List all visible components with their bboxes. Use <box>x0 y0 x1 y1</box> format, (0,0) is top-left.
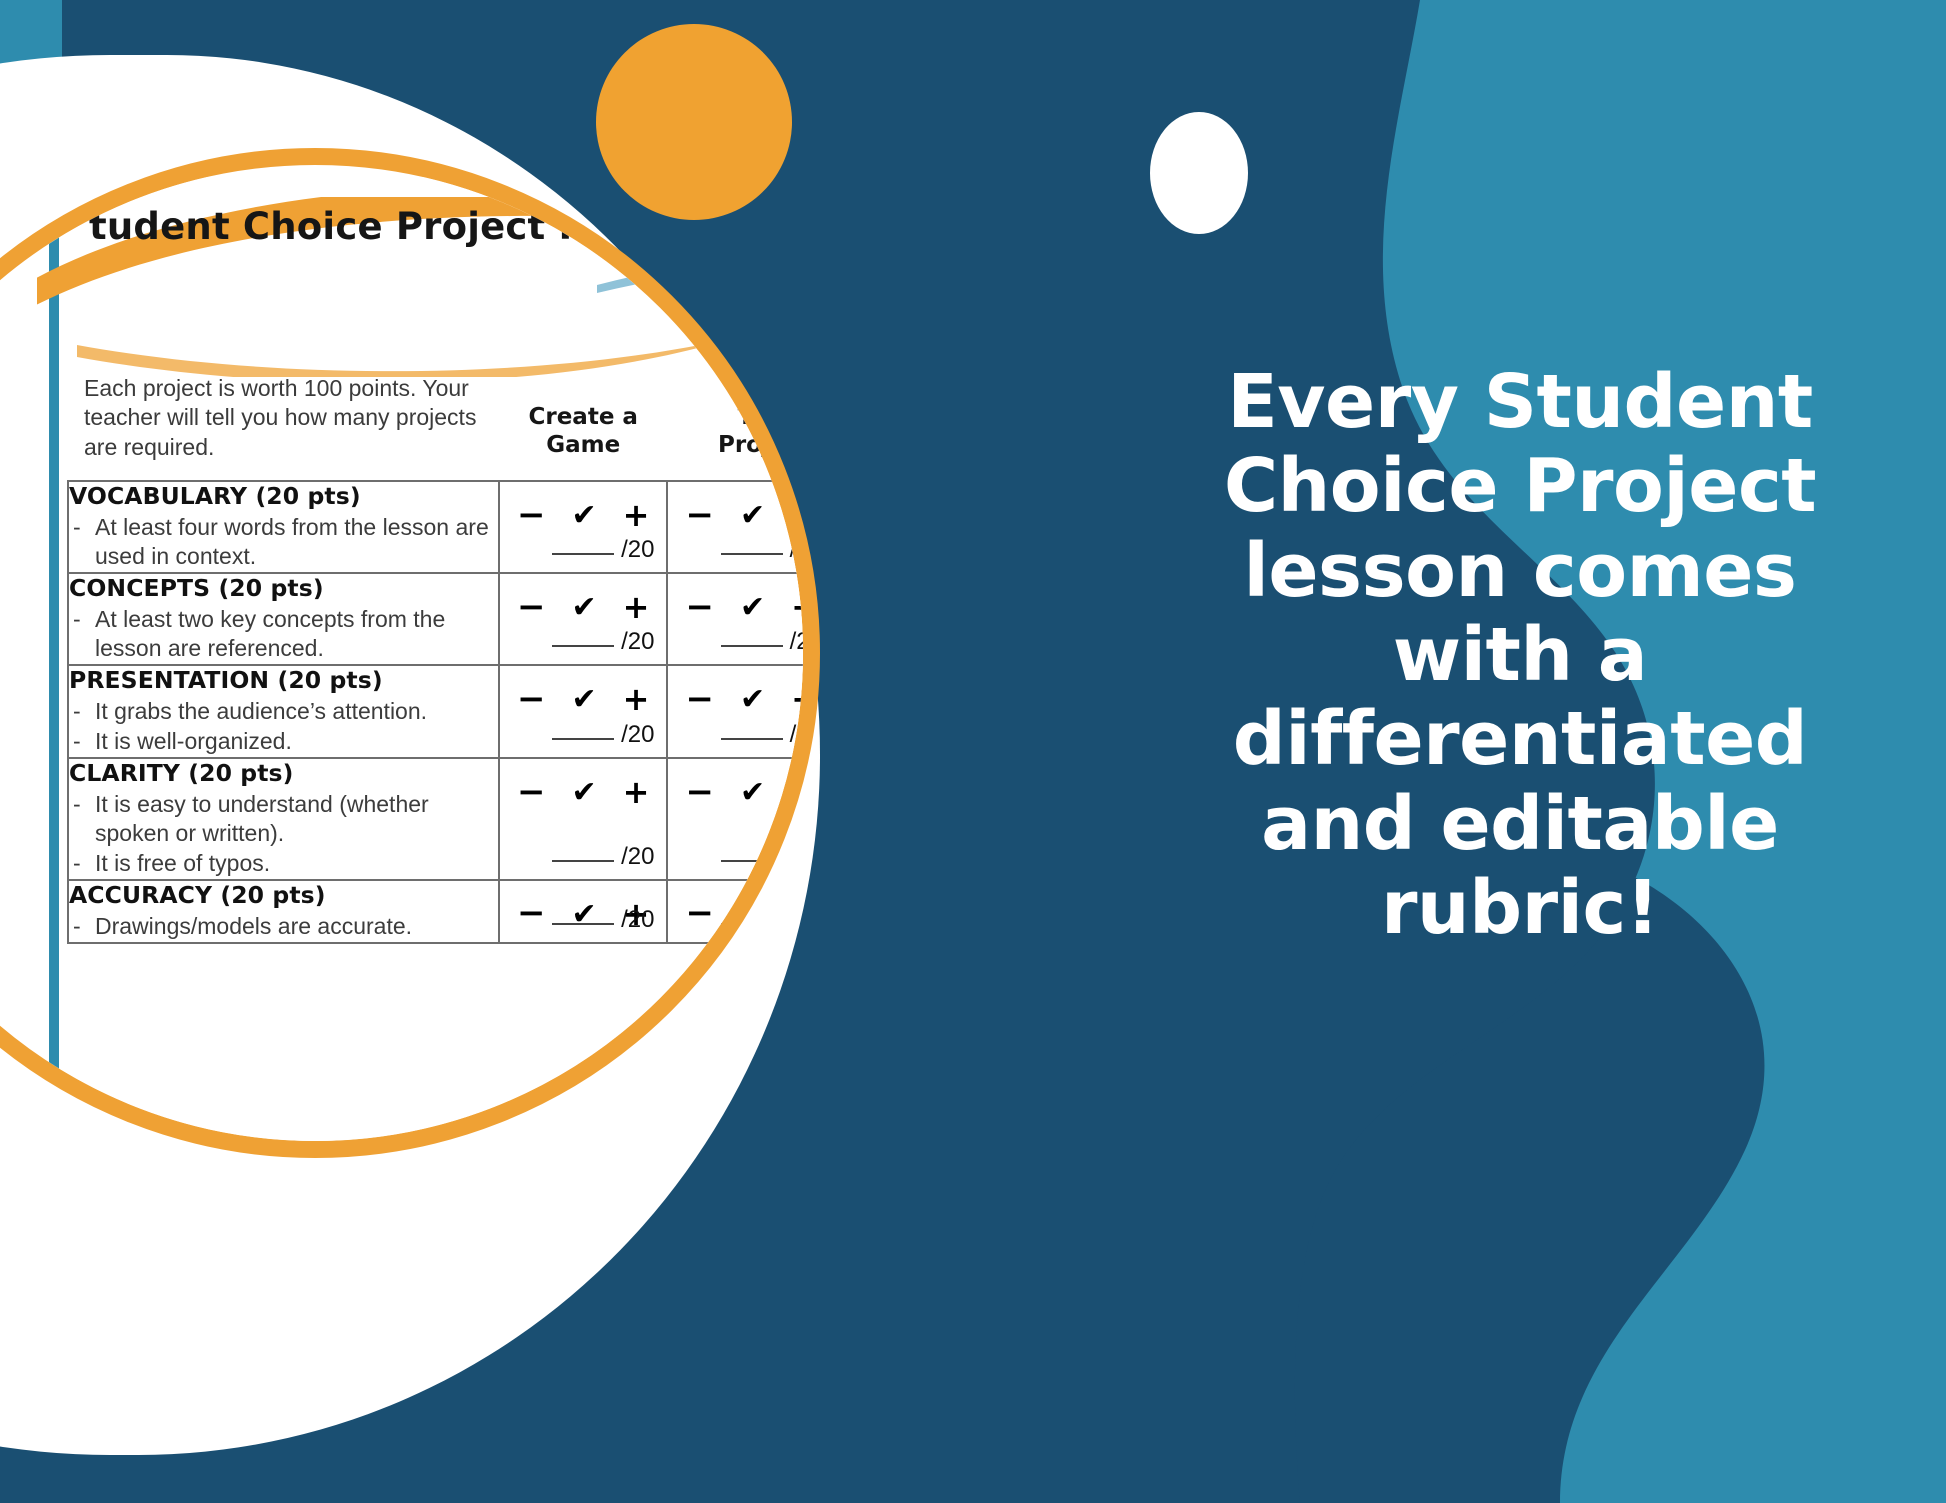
plus-mark-icon[interactable]: + <box>623 773 650 811</box>
score-cell-presentation-game[interactable]: − ✔ + /20 <box>499 665 668 758</box>
minus-mark-icon[interactable]: − <box>517 900 546 927</box>
check-mark-icon[interactable]: ✔ <box>740 590 765 625</box>
intro-cell: Each project is worth 100 points. Your t… <box>68 352 499 481</box>
check-mark-icon[interactable]: ✔ <box>740 682 765 717</box>
criterion-bullets: It grabs the audience’s attention. It is… <box>69 697 498 756</box>
score-underline[interactable] <box>721 903 783 925</box>
criterion-bullet: It is easy to understand (whether spoken… <box>69 790 498 848</box>
check-mark-icon[interactable]: ✔ <box>571 775 596 810</box>
rubric-circle-card: tudent Choice Project Rubric Each projec… <box>0 148 820 1158</box>
criterion-bullet: Drawings/models are accurate. <box>69 912 498 941</box>
plus-mark-icon[interactable]: + <box>623 680 650 718</box>
criterion-bullets: Drawings/models are accurate. <box>69 912 498 941</box>
plus-mark-icon[interactable]: + <box>623 496 650 534</box>
criterion-title: CLARITY (20 pts) <box>69 759 498 787</box>
minus-mark-icon[interactable]: − <box>517 594 546 621</box>
criterion-bullets: At least four words from the lesson are … <box>69 513 498 571</box>
column-header2-line2: Proje <box>673 432 820 460</box>
score-cell-vocab-project[interactable]: − ✔ + /20 <box>667 481 820 573</box>
score-blank[interactable]: /20 <box>552 903 654 934</box>
table-row: PRESENTATION (20 pts) It grabs the audie… <box>68 665 820 758</box>
score-total: /20 <box>790 628 820 655</box>
criterion-bullet: At least two key concepts from the lesso… <box>69 605 498 663</box>
intro-text: Each project is worth 100 points. Your t… <box>68 352 499 480</box>
score-total: /20 <box>621 843 654 870</box>
score-cell-presentation-project[interactable]: − ✔ + /20 <box>667 665 820 758</box>
score-underline[interactable] <box>721 625 783 647</box>
criterion-bullet: It grabs the audience’s attention. <box>69 697 498 726</box>
score-marks[interactable]: − ✔ + <box>668 759 820 811</box>
criterion-cell-clarity: CLARITY (20 pts) It is easy to understan… <box>68 758 499 880</box>
score-blank[interactable]: /20 <box>552 533 654 564</box>
minus-mark-icon[interactable]: − <box>686 502 715 529</box>
criterion-cell-accuracy: ACCURACY (20 pts) Drawings/models are ac… <box>68 880 499 943</box>
table-row: VOCABULARY (20 pts) At least four words … <box>68 481 820 573</box>
score-total: /20 <box>621 721 654 748</box>
criterion-title: PRESENTATION (20 pts) <box>69 666 498 694</box>
plus-mark-icon[interactable]: + <box>791 680 818 718</box>
minus-mark-icon[interactable]: − <box>517 686 546 713</box>
criterion-bullets: It is easy to understand (whether spoken… <box>69 790 498 878</box>
white-ellipse-decoration <box>1150 112 1248 234</box>
score-marks[interactable]: − ✔ + <box>500 574 667 626</box>
table-row: CLARITY (20 pts) It is easy to understan… <box>68 758 820 880</box>
score-marks[interactable]: − ✔ + <box>668 666 820 718</box>
score-marks[interactable]: − ✔ + <box>668 574 820 626</box>
score-total: /20 <box>621 906 654 933</box>
table-row: ACCURACY (20 pts) Drawings/models are ac… <box>68 880 820 943</box>
minus-mark-icon[interactable]: − <box>517 779 546 806</box>
criterion-cell-presentation: PRESENTATION (20 pts) It grabs the audie… <box>68 665 499 758</box>
check-mark-icon[interactable]: ✔ <box>571 682 596 717</box>
check-mark-icon[interactable]: ✔ <box>740 775 765 810</box>
score-cell-accuracy-project[interactable]: − ✔ + /20 <box>667 880 820 943</box>
score-underline[interactable] <box>552 718 614 740</box>
table-row: CONCEPTS (20 pts) At least two key conce… <box>68 573 820 665</box>
score-marks[interactable]: − ✔ + <box>500 759 667 811</box>
score-cell-vocab-game[interactable]: − ✔ + /20 <box>499 481 668 573</box>
score-marks[interactable]: − ✔ + <box>500 666 667 718</box>
score-cell-concepts-game[interactable]: − ✔ + /20 <box>499 573 668 665</box>
plus-mark-icon[interactable]: + <box>791 588 818 626</box>
score-marks[interactable]: − ✔ + <box>500 482 667 534</box>
criterion-cell-concepts: CONCEPTS (20 pts) At least two key conce… <box>68 573 499 665</box>
criterion-bullet: It is free of typos. <box>69 849 498 878</box>
minus-mark-icon[interactable]: − <box>686 900 715 927</box>
score-underline[interactable] <box>552 533 614 555</box>
score-underline[interactable] <box>721 718 783 740</box>
minus-mark-icon[interactable]: − <box>517 502 546 529</box>
score-underline[interactable] <box>721 840 783 862</box>
check-mark-icon[interactable]: ✔ <box>571 590 596 625</box>
minus-mark-icon[interactable]: − <box>686 779 715 806</box>
rubric-document: tudent Choice Project Rubric Each projec… <box>17 148 820 1158</box>
score-cell-concepts-project[interactable]: − ✔ + /20 <box>667 573 820 665</box>
score-cell-clarity-project[interactable]: − ✔ + /20 <box>667 758 820 880</box>
minus-mark-icon[interactable]: − <box>686 594 715 621</box>
criterion-title: CONCEPTS (20 pts) <box>69 574 498 602</box>
plus-mark-icon[interactable]: + <box>623 588 650 626</box>
criterion-bullets: At least two key concepts from the lesso… <box>69 605 498 663</box>
score-blank[interactable]: /20 <box>721 533 820 564</box>
score-blank[interactable]: /20 <box>552 625 654 656</box>
column-header-teach-a-project: Te Proje <box>667 352 820 481</box>
criterion-bullet: At least four words from the lesson are … <box>69 513 498 571</box>
score-blank[interactable]: /20 <box>721 625 820 656</box>
column-header-create-a-game: Create a Game <box>499 352 668 481</box>
score-cell-accuracy-game[interactable]: − ✔ + /20 <box>499 880 668 943</box>
criterion-cell-vocabulary: VOCABULARY (20 pts) At least four words … <box>68 481 499 573</box>
rubric-header-row: Each project is worth 100 points. Your t… <box>68 352 820 481</box>
criterion-title: VOCABULARY (20 pts) <box>69 482 498 510</box>
score-blank[interactable]: /20 <box>552 840 654 871</box>
score-underline[interactable] <box>721 533 783 555</box>
score-underline[interactable] <box>552 903 614 925</box>
column-header-line1: Create a <box>505 404 662 432</box>
score-total: /20 <box>621 536 654 563</box>
criterion-title: ACCURACY (20 pts) <box>69 881 498 909</box>
column-header2-line1: Te <box>673 404 820 432</box>
check-mark-icon[interactable]: ✔ <box>571 498 596 533</box>
document-title: tudent Choice Project Rubric <box>89 205 769 249</box>
minus-mark-icon[interactable]: − <box>686 686 715 713</box>
score-blank[interactable]: /20 <box>552 718 654 749</box>
column-header-line2: Game <box>505 432 662 460</box>
score-cell-clarity-game[interactable]: − ✔ + /20 <box>499 758 668 880</box>
score-blank[interactable]: /20 <box>721 718 820 749</box>
headline-text: Every Student Choice Project lesson come… <box>1150 360 1890 951</box>
score-total: /20 <box>621 628 654 655</box>
rubric-table: Each project is worth 100 points. Your t… <box>67 352 820 944</box>
score-marks[interactable]: − ✔ + <box>668 482 820 534</box>
criterion-bullet: It is well-organized. <box>69 727 498 756</box>
score-underline[interactable] <box>552 625 614 647</box>
score-underline[interactable] <box>552 840 614 862</box>
check-mark-icon[interactable]: ✔ <box>740 498 765 533</box>
